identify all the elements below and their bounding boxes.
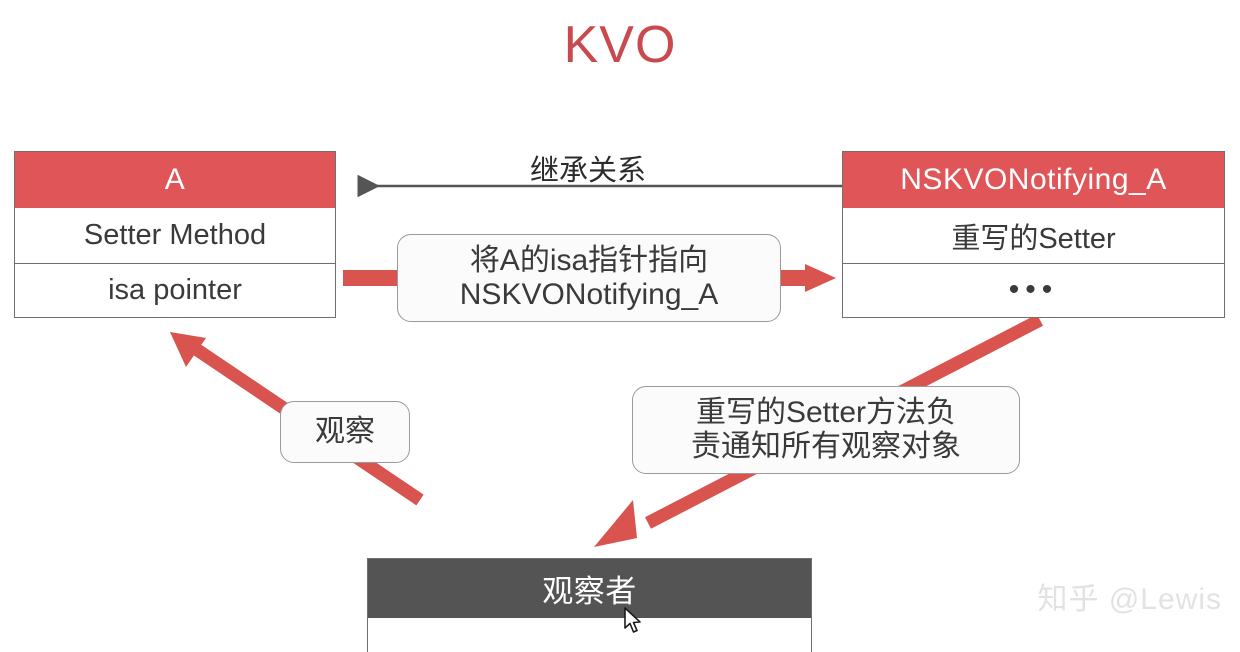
callout-notify-observers[interactable]: 重写的Setter方法负 责通知所有观察对象 — [632, 386, 1020, 474]
class-box-a-header: A — [15, 152, 335, 208]
class-box-observer[interactable]: 观察者 — [367, 558, 812, 652]
class-box-a-row-isa: isa pointer — [15, 263, 335, 316]
callout-observe[interactable]: 观察 — [280, 401, 410, 463]
watermark: 知乎 @Lewis — [1038, 574, 1223, 618]
diagram-canvas: KVO A Setter Method isa pointer — [0, 0, 1240, 652]
class-box-a-row-setter: Setter Method — [15, 208, 335, 263]
callout-isa-redirect-line1: 将A的isa指针指向 — [470, 244, 708, 278]
label-inheritance: 继承关系 — [530, 147, 646, 189]
callout-isa-redirect[interactable]: 将A的isa指针指向 NSKVONotifying_A — [397, 234, 781, 322]
class-box-observer-header: 观察者 — [368, 559, 811, 618]
mouse-pointer-icon — [624, 607, 642, 635]
class-box-nskvonotifying-a[interactable]: NSKVONotifying_A 重写的Setter ••• — [842, 151, 1225, 318]
callout-observe-line1: 观察 — [315, 415, 375, 449]
class-box-nskvonotifying-a-row-setter: 重写的Setter — [843, 208, 1224, 263]
callout-notify-observers-line2: 责通知所有观察对象 — [691, 430, 961, 464]
callout-isa-redirect-line2: NSKVONotifying_A — [460, 278, 718, 312]
arrow-isa-redirect-left — [343, 270, 401, 286]
class-box-nskvonotifying-a-header: NSKVONotifying_A — [843, 152, 1224, 208]
arrow-layer — [0, 0, 1240, 652]
class-box-a[interactable]: A Setter Method isa pointer — [14, 151, 336, 318]
class-box-observer-row-empty — [368, 618, 811, 652]
class-box-nskvonotifying-a-row-ellipsis: ••• — [843, 263, 1224, 316]
callout-notify-observers-line1: 重写的Setter方法负 — [696, 396, 956, 430]
